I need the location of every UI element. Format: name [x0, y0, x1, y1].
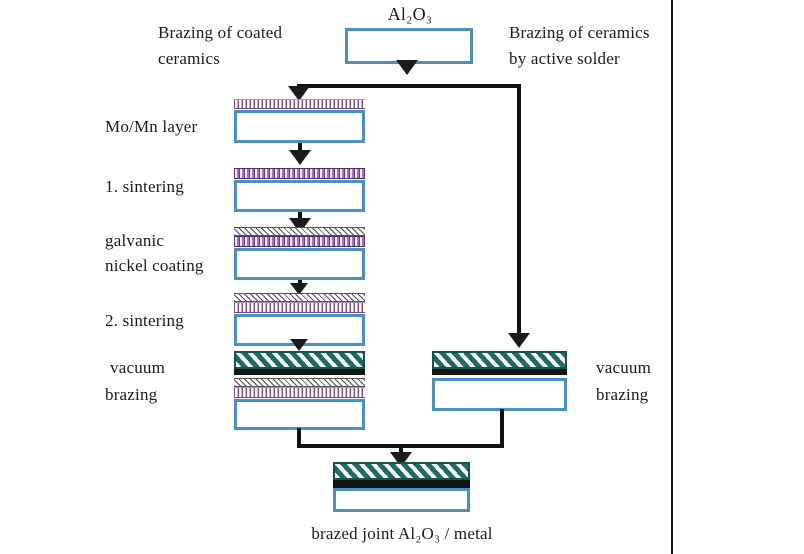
- arrow-al2o3-down: [396, 60, 418, 75]
- layer-momn-sintered-step2: [234, 168, 365, 179]
- step-label-mo-mn-layer: Mo/Mn layer: [105, 114, 197, 139]
- layer-momn-step4: [234, 302, 365, 313]
- layer-momn-step1: [234, 99, 365, 109]
- step-label-vacuum-brazing-right-line2: brazing: [596, 382, 648, 407]
- ceramic-box-step2: [234, 180, 365, 212]
- layer-nickel-left-brazing: [234, 378, 365, 387]
- connector-split-right-down: [517, 84, 521, 337]
- layer-metal-left-brazing: [234, 351, 365, 369]
- step-label-second-sintering: 2. sintering: [105, 308, 184, 333]
- arrow-step1-step2: [289, 150, 311, 165]
- process-flow-diagram: Al₂O₃ Brazing of coated ceramics Brazing…: [0, 0, 804, 554]
- layer-nickel-step3: [234, 227, 365, 236]
- layer-solder-left-brazing: [234, 369, 365, 375]
- layer-solder-final-joint: [333, 480, 470, 488]
- layer-metal-final-joint: [333, 462, 470, 480]
- layer-momn-sintered-step3: [234, 236, 365, 247]
- step-label-first-sintering: 1. sintering: [105, 174, 184, 199]
- branch-left-heading-line1: Brazing of coated: [158, 20, 282, 45]
- step-label-vacuum-brazing-left-line2: brazing: [105, 382, 157, 407]
- connector-right-branch-to-merge: [500, 409, 504, 448]
- ceramic-box-final-joint: [333, 488, 470, 512]
- layer-metal-right-brazing: [432, 351, 567, 369]
- connector-split-horizontal: [297, 84, 521, 88]
- step-label-vacuum-brazing-left-line1: vacuum: [110, 355, 165, 380]
- ceramic-box-step1: [234, 110, 365, 143]
- branch-right-heading-line2: by active solder: [509, 46, 620, 71]
- final-joint-caption: brazed joint Al₂O₃ / metal: [252, 521, 552, 546]
- step-label-galvanic-line1: galvanic: [105, 228, 164, 253]
- branch-left-heading-line2: ceramics: [158, 46, 220, 71]
- ceramic-box-step3: [234, 248, 365, 280]
- layer-solder-right-brazing: [432, 369, 567, 375]
- al2o3-start-box: [345, 28, 473, 64]
- step-label-vacuum-brazing-right-line1: vacuum: [596, 355, 651, 380]
- branch-right-heading-line1: Brazing of ceramics: [509, 20, 650, 45]
- arrow-into-right-vacuum-brazing: [508, 333, 530, 348]
- ceramic-box-left-brazing: [234, 399, 365, 430]
- ceramic-box-right-brazing: [432, 378, 567, 411]
- layer-nickel-step4: [234, 293, 365, 302]
- image-border-right: [671, 0, 673, 554]
- arrow-step4-step5: [290, 339, 308, 351]
- layer-momn-left-brazing: [234, 387, 365, 398]
- step-label-galvanic-line2: nickel coating: [105, 253, 204, 278]
- al2o3-title: Al₂O₃: [345, 2, 475, 27]
